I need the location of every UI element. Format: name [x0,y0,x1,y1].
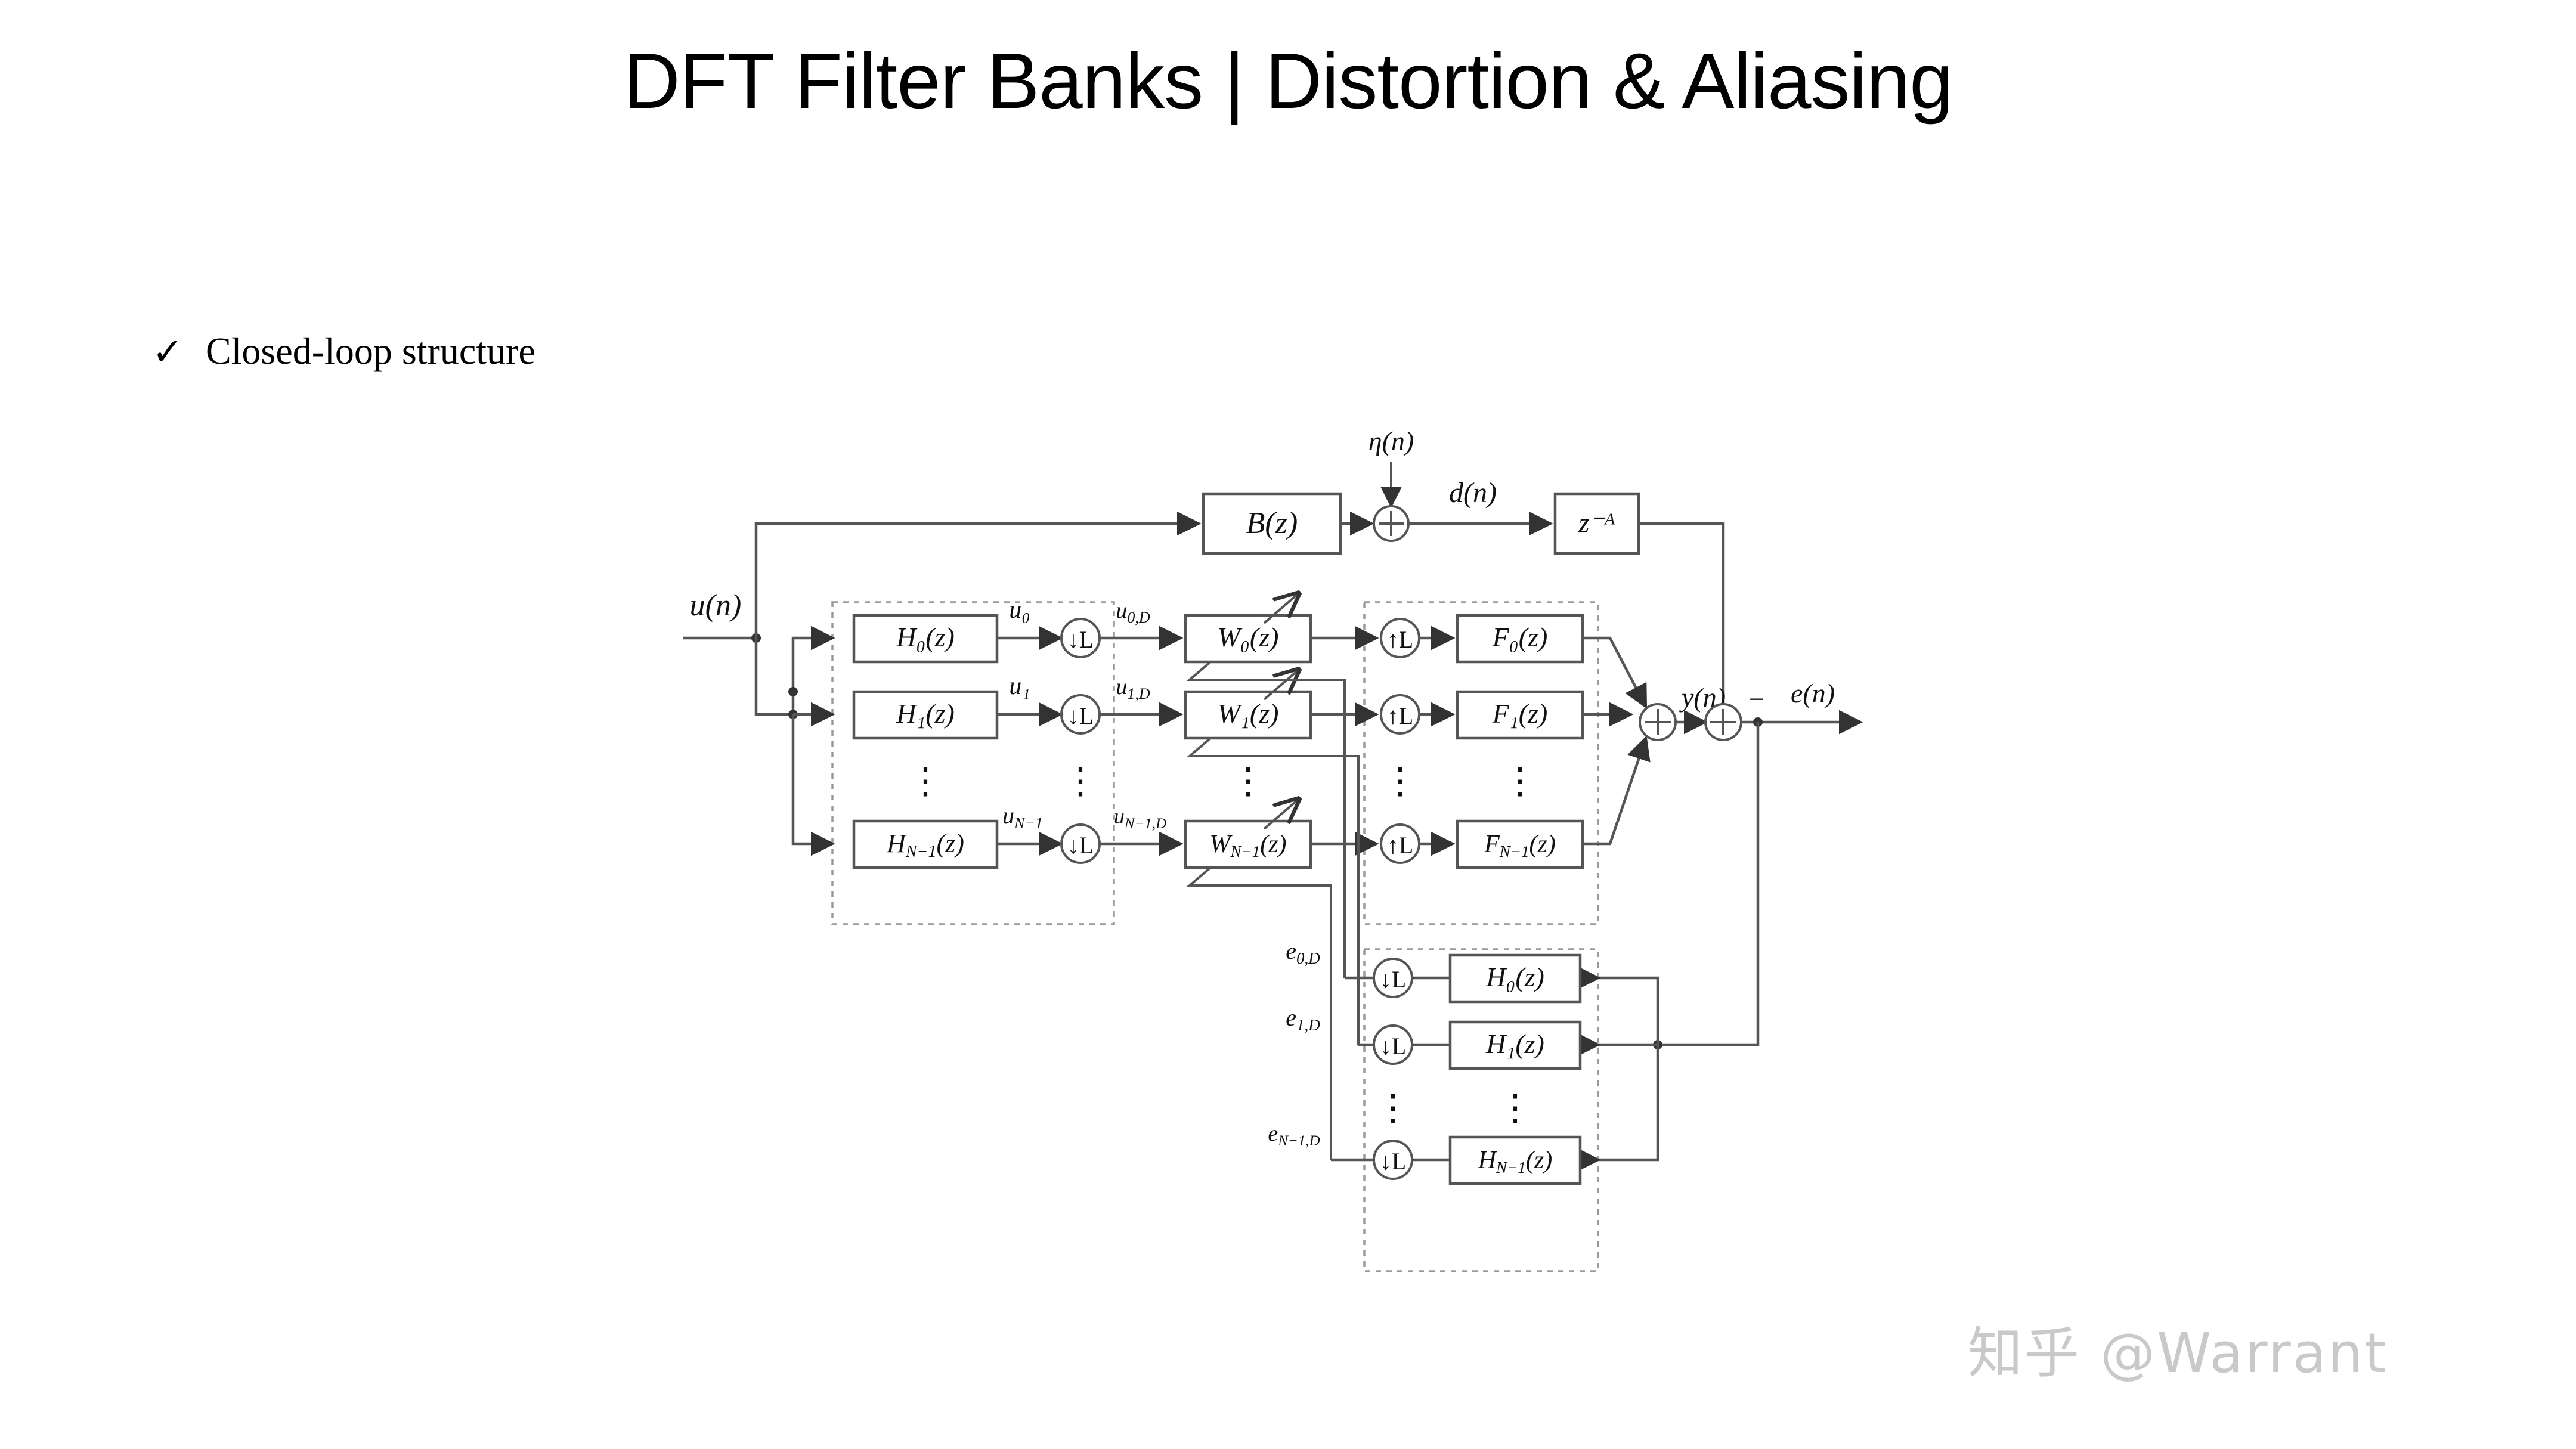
analysis-filter-h1-label: H₁(z) [896,698,955,729]
interpolator-rowN-label: ↑L [1387,832,1413,859]
synthesis-filter-f0-label: F₀(z) [1492,622,1548,652]
decimator-row1-label: ↓L [1067,702,1094,729]
zhihu-watermark: 知乎 @Warrant [1968,1309,2388,1388]
synthesis-vdots-interp: ⋮ [1382,761,1418,801]
subband-signal-u0-label: u₀ [1009,596,1030,624]
synthesis-filter-f1-label: F₁(z) [1492,698,1548,729]
decimated-signal-u0D-label: u0,D [1116,598,1150,626]
error-signal-enD-label: eN−1,D [1268,1121,1320,1149]
block-diagram: .ln{stroke:#555555;stroke-width:4;fill:n… [0,0,2576,1449]
analysis-filter-h0-label: H₀(z) [896,622,955,652]
error-vdots-decimators: ⋮ [1375,1088,1411,1128]
error-signal-e1D-label: e1,D [1286,1004,1320,1034]
synthesis-vdots-filters: ⋮ [1502,761,1538,801]
decimator-row0-label: ↓L [1067,626,1094,653]
delay-block-label: z⁻ᴬ [1578,507,1615,538]
interpolator-row1-label: ↑L [1387,702,1413,729]
plant-bz-label: B(z) [1246,506,1298,540]
interpolator-row0-label: ↑L [1387,626,1413,653]
error-feedback-to-wn [1190,868,1331,1160]
input-signal-label: u(n) [690,589,742,623]
f0-to-summer [1583,638,1646,707]
noise-signal-label: η(n) [1368,426,1414,456]
error-signal-label: e(n) [1791,678,1835,708]
adaptive-filter-w1-label: W₁(z) [1218,698,1279,729]
decimated-signal-u1D-label: u1,D [1116,674,1150,702]
bus-node-2 [788,687,798,696]
error-decimator-row0-label: ↓L [1380,966,1406,993]
minus-sign-label: − [1749,684,1764,714]
adaptive-filter-w0-label: W₀(z) [1218,622,1279,652]
error-filter-h1-label: H₁(z) [1485,1029,1544,1059]
analysis-vdots-filters: ⋮ [908,761,943,801]
analysis-vdots-decimators: ⋮ [1063,761,1098,801]
error-feedback-bus [1658,722,1758,1045]
error-decimator-rowN-label: ↓L [1380,1148,1406,1175]
desired-signal-label: d(n) [1449,477,1497,509]
error-vdots-filters: ⋮ [1497,1088,1533,1128]
subband-signal-u1-label: u₁ [1009,673,1030,700]
decimator-rowN-label: ↓L [1067,832,1094,859]
error-filter-h0-label: H₀(z) [1485,962,1544,992]
adaptive-vdots: ⋮ [1230,761,1266,801]
error-decimator-row1-label: ↓L [1380,1033,1406,1060]
error-signal-e0D-label: e0,D [1286,937,1320,967]
error-feedback-to-w1 [1190,738,1358,1045]
fn-to-summer [1583,738,1646,844]
subband-signal-un-label: uN−1 [1002,802,1043,832]
decimated-signal-unD-label: uN−1,D [1114,804,1166,832]
